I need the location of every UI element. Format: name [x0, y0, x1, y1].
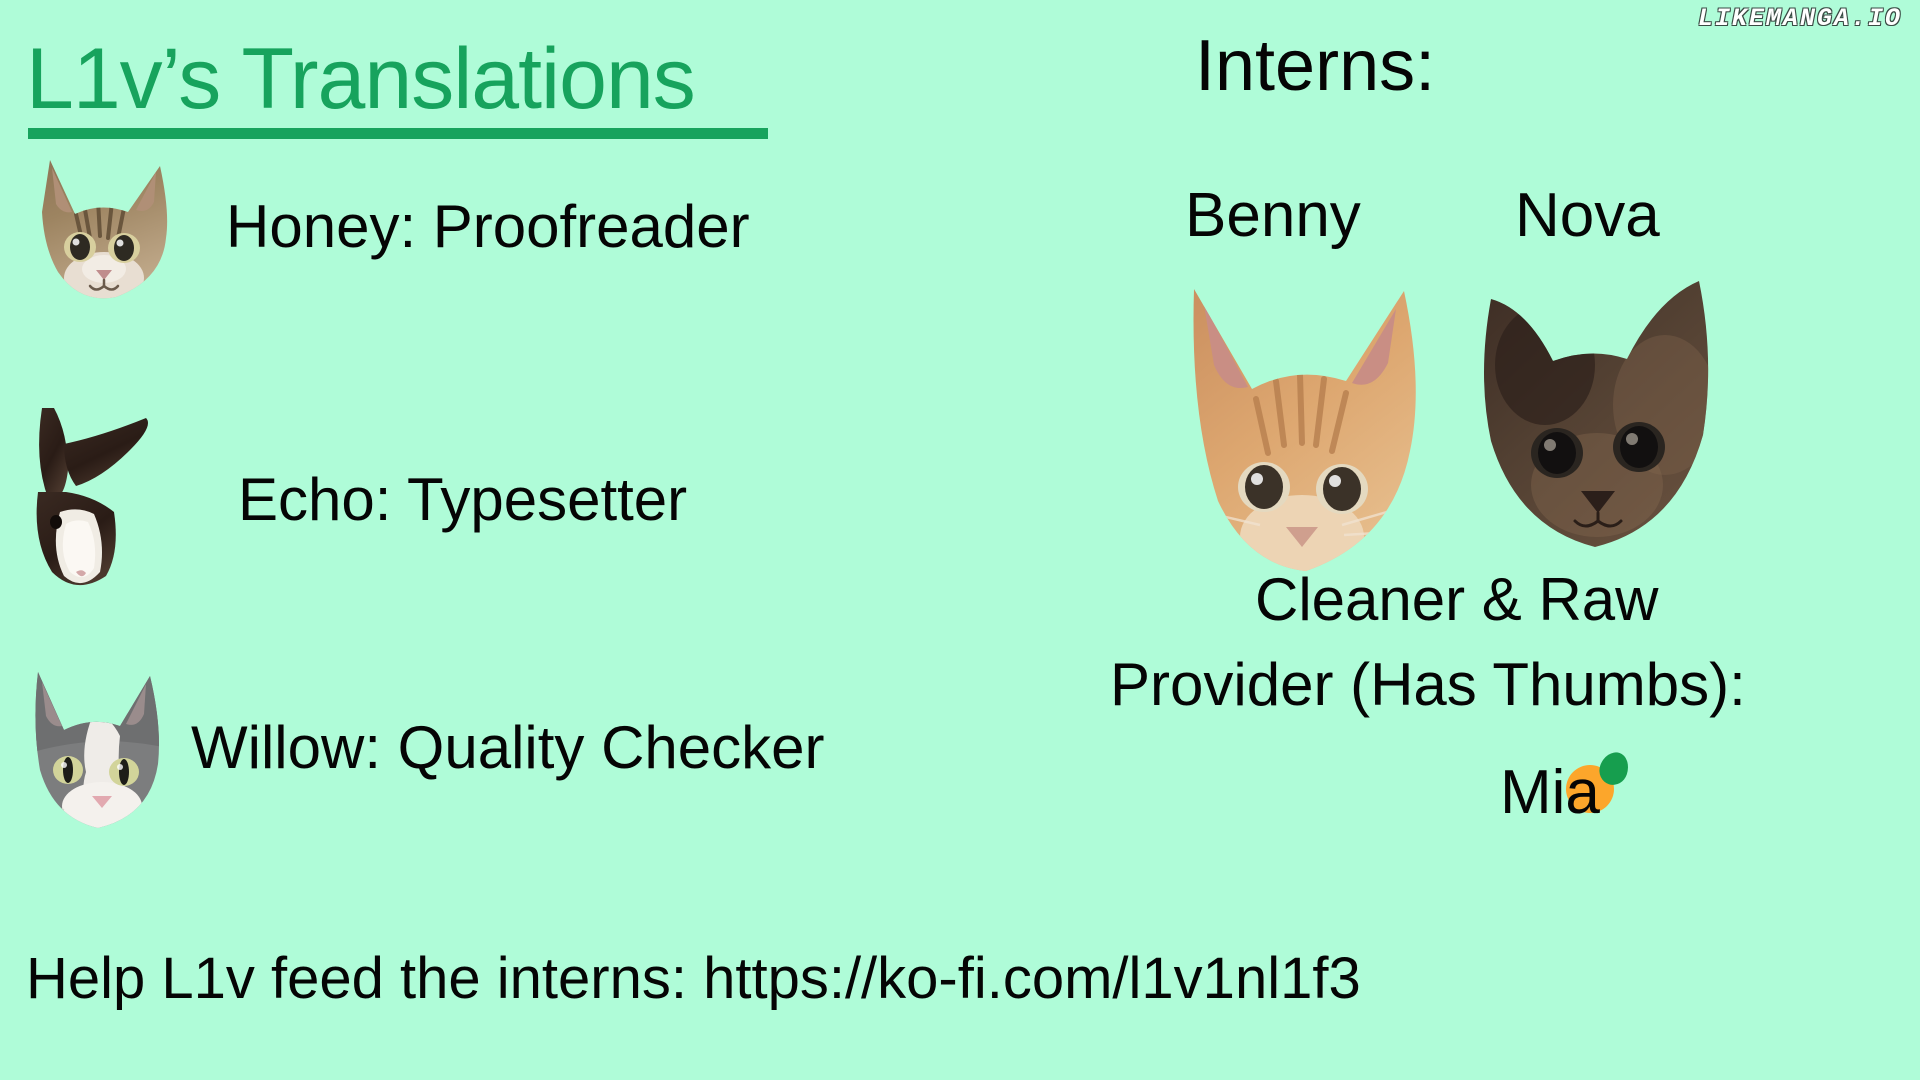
staff-row: Echo: Typesetter: [20, 400, 687, 600]
page-title-underline: [28, 128, 768, 139]
staff-label-echo: Echo: Typesetter: [238, 470, 687, 530]
intern-name-benny: Benny: [1185, 185, 1361, 247]
echo-rabbit-head-icon: [20, 400, 190, 600]
interns-heading: Interns:: [1195, 30, 1435, 102]
likemanga-watermark: LIKEMANGA.IO: [1698, 4, 1902, 33]
intern-name-nova: Nova: [1515, 185, 1660, 247]
credits-page: LIKEMANGA.IO L1v’s Translations: [0, 0, 1920, 1080]
page-title: L1v’s Translations: [26, 36, 695, 122]
honey-tabby-cat-head-icon: [20, 152, 180, 302]
cleaner-role-line-1: Cleaner & Raw: [1255, 570, 1659, 630]
staff-label-honey: Honey: Proofreader: [226, 197, 750, 257]
cleaner-role-line-2: Provider (Has Thumbs):: [1110, 655, 1746, 715]
staff-row: Honey: Proofreader: [20, 152, 750, 302]
nova-dark-kitten-head-icon: [1465, 255, 1725, 560]
staff-label-willow: Willow: Quality Checker: [191, 718, 825, 778]
benny-orange-kitten-head-icon: [1160, 275, 1430, 580]
kofi-support-text[interactable]: Help L1v feed the interns: https://ko-fi…: [26, 950, 1361, 1008]
willow-grey-white-cat-head-icon: [20, 660, 175, 835]
cleaner-person-name: Mia: [1500, 762, 1600, 824]
staff-row: Willow: Quality Checker: [20, 660, 825, 835]
